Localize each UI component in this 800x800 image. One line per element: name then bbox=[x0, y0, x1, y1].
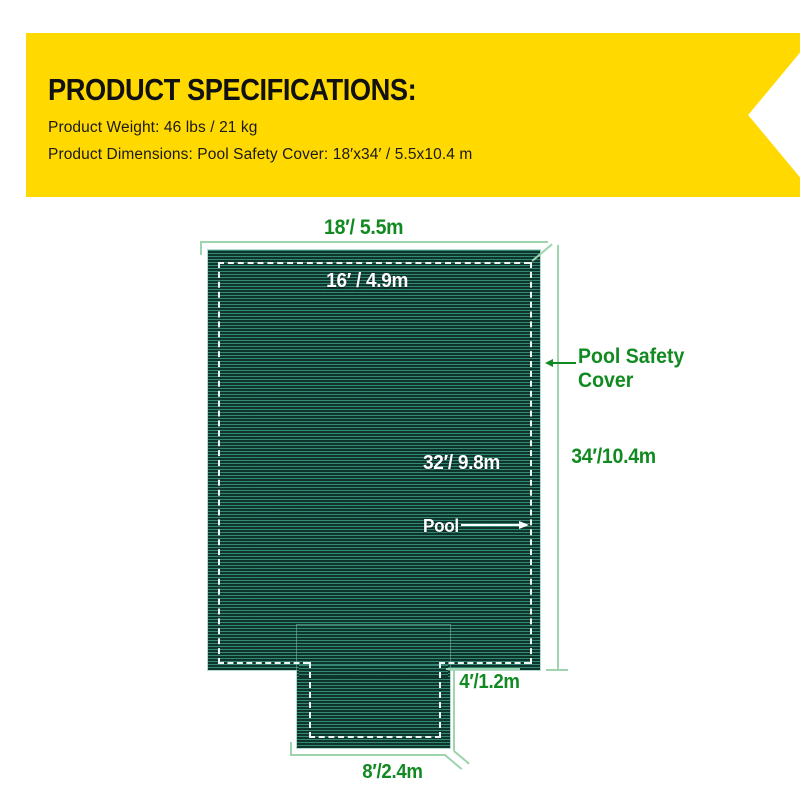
dimline-right-tick-bottom bbox=[546, 669, 568, 671]
label-step-height: 4′/1.2m bbox=[459, 671, 519, 694]
label-pool: Pool bbox=[423, 516, 459, 537]
label-top-width: 18′/ 5.5m bbox=[324, 216, 403, 240]
label-step-width: 8′/2.4m bbox=[362, 761, 422, 784]
pool-cover-diagram: 18′/ 5.5m 34′/10.4m 4′/1.2m 8′/2.4m Pool… bbox=[0, 205, 800, 800]
callout-line-1: Pool Safety bbox=[578, 345, 684, 369]
spec-banner bbox=[26, 33, 800, 197]
dimline-top bbox=[200, 241, 548, 243]
right-arrow-icon bbox=[461, 519, 529, 531]
cover-step-mesh bbox=[297, 625, 450, 748]
product-spec-page: PRODUCT SPECIFICATIONS: Product Weight: … bbox=[0, 0, 800, 800]
label-inner-top-width: 16′ / 4.9m bbox=[326, 270, 408, 293]
label-inner-height: 32′/ 9.8m bbox=[423, 452, 500, 475]
dimline-step-height bbox=[453, 668, 455, 751]
spec-product-dimensions: Product Dimensions: Pool Safety Cover: 1… bbox=[48, 146, 472, 164]
callout-pool-safety-cover: Pool Safety Cover bbox=[578, 345, 684, 392]
dimline-step-height-tick-top bbox=[446, 668, 520, 670]
left-arrow-icon bbox=[545, 357, 577, 369]
dimline-right bbox=[557, 245, 559, 670]
label-right-height: 34′/10.4m bbox=[571, 445, 656, 469]
spec-title: PRODUCT SPECIFICATIONS: bbox=[48, 72, 416, 108]
dimline-top-tick-left bbox=[200, 241, 202, 255]
callout-line-2: Cover bbox=[578, 369, 684, 393]
dimline-step-width bbox=[290, 754, 446, 756]
dimline-step-width-tick-left bbox=[290, 742, 292, 756]
cover-seam-patch bbox=[299, 665, 448, 677]
spec-product-weight: Product Weight: 46 lbs / 21 kg bbox=[48, 119, 258, 137]
